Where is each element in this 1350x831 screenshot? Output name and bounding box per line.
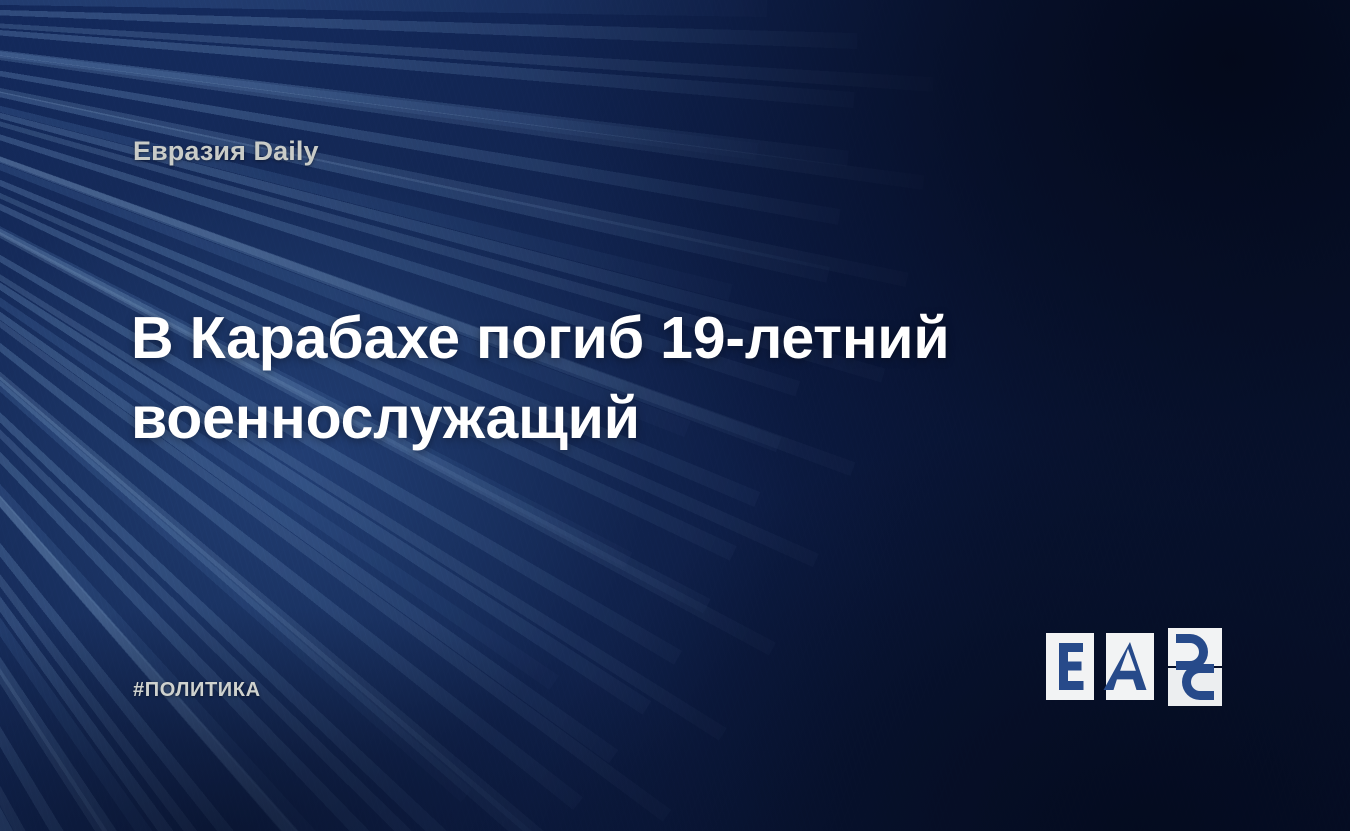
- news-card: Евразия Daily В Карабахе погиб 19-летний…: [0, 0, 1350, 831]
- eadaily-logo-icon: [1046, 626, 1222, 708]
- card-content: Евразия Daily В Карабахе погиб 19-летний…: [0, 0, 1350, 831]
- eadaily-logo[interactable]: [1046, 626, 1222, 708]
- category-tag[interactable]: #ПОЛИТИКА: [133, 679, 261, 702]
- brand-name: Евразия Daily: [133, 136, 319, 167]
- headline: В Карабахе погиб 19-летний военнослужащи…: [131, 298, 991, 458]
